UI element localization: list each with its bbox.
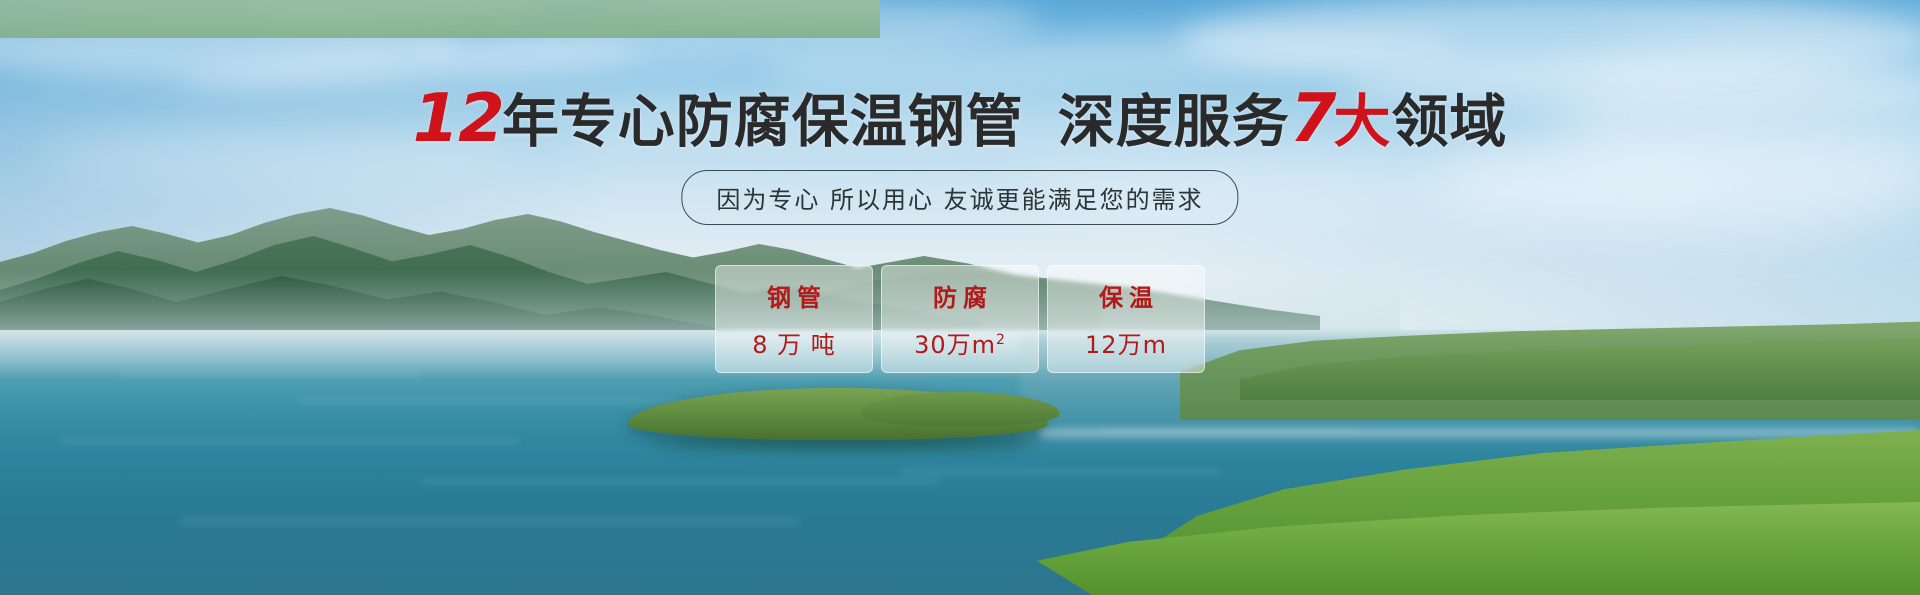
stat-card-title: 保温 [1093, 278, 1159, 313]
water-streak [180, 520, 800, 523]
headline-years-number: 12 [413, 79, 504, 157]
headline-red-suffix: 大 [1333, 89, 1391, 155]
stat-card-unit-sup: 2 [996, 332, 1006, 348]
banner-headline: 12年专心防腐保温钢管深度服务7大领域 [0, 86, 1920, 154]
stat-card-insulation[interactable]: 保温 12万m [1047, 265, 1205, 373]
headline-part-one: 年专心防腐保温钢管 [502, 89, 1024, 155]
stat-card-title: 防腐 [927, 278, 993, 313]
far-shore-bank [0, 0, 880, 38]
headline-fields-number: 7 [1290, 79, 1336, 157]
water-streak [120, 372, 420, 375]
stat-card-group: 钢管 8 万 吨 防腐 30万m2 保温 12万m [715, 265, 1205, 373]
hero-banner: 12年专心防腐保温钢管深度服务7大领域 因为专心 所以用心 友诚更能满足您的需求… [0, 0, 1920, 595]
stat-card-anticorrosion[interactable]: 防腐 30万m2 [881, 265, 1039, 373]
water-streak [420, 480, 940, 483]
stat-card-title: 钢管 [761, 278, 827, 313]
headline-part-three: 领域 [1391, 89, 1507, 155]
banner-subtitle-pill: 因为专心 所以用心 友诚更能满足您的需求 [681, 170, 1238, 225]
water-streak [300, 400, 680, 403]
stat-card-value: 30万m2 [914, 325, 1006, 360]
water-streak [900, 470, 1220, 473]
headline-part-two: 深度服务 [1058, 89, 1290, 155]
shoreline-highlight [1040, 428, 1920, 438]
stat-card-steel-pipe[interactable]: 钢管 8 万 吨 [715, 265, 873, 373]
stat-card-value: 8 万 吨 [752, 325, 836, 360]
stat-card-value: 12万m [1085, 325, 1167, 360]
water-streak [60, 440, 520, 443]
